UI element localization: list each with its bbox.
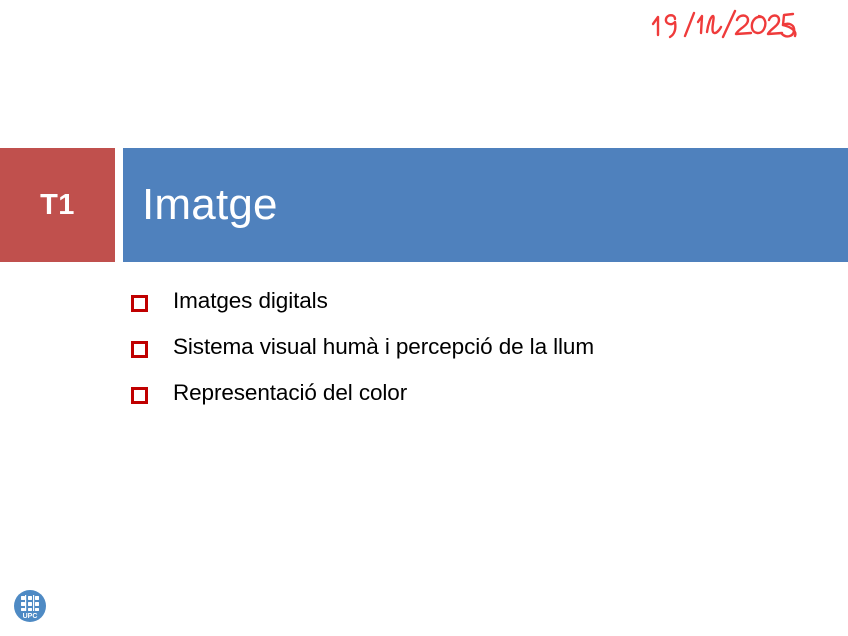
list-item-label: Representació del color: [173, 382, 407, 405]
presentation-slide: T1 Imatge Imatges digitals Sistema visua…: [0, 0, 848, 636]
topic-number-block: T1: [0, 148, 115, 262]
list-item: Representació del color: [128, 382, 828, 428]
title-banner: T1 Imatge: [0, 148, 848, 262]
upc-logo: UPC: [13, 589, 47, 623]
list-item: Sistema visual humà i percepció de la ll…: [128, 336, 828, 382]
topic-number-label: T1: [40, 191, 75, 220]
agenda-bullet-list: Imatges digitals Sistema visual humà i p…: [128, 290, 828, 428]
title-bar: Imatge: [123, 148, 848, 262]
list-item: Imatges digitals: [128, 290, 828, 336]
slide-title: Imatge: [123, 183, 278, 227]
handwritten-date-annotation: [645, 2, 805, 48]
list-item-label: Imatges digitals: [173, 290, 328, 313]
list-item-label: Sistema visual humà i percepció de la ll…: [173, 336, 594, 359]
svg-text:UPC: UPC: [23, 613, 38, 620]
